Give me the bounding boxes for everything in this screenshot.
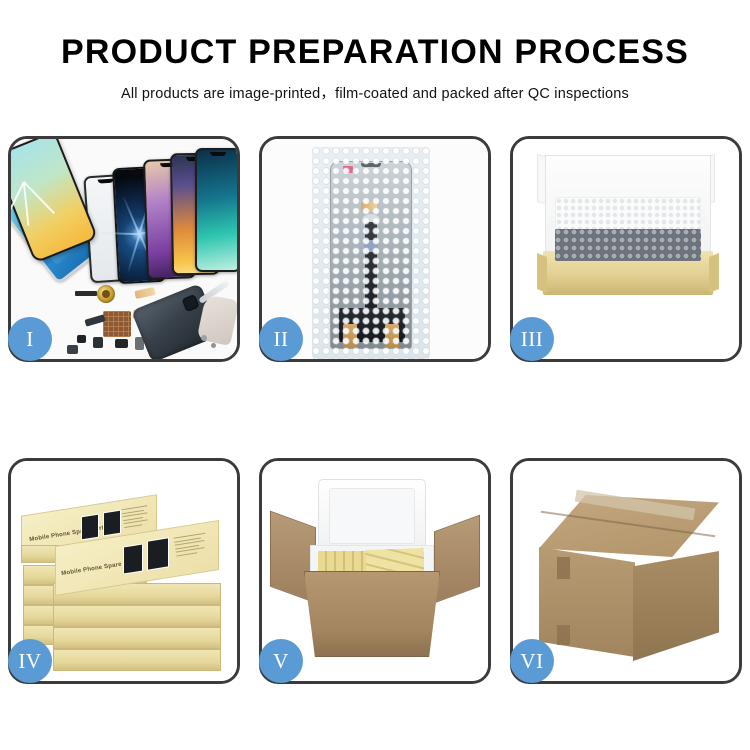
step-panel-1: I — [8, 136, 240, 362]
bubble-wrap-bag — [312, 147, 430, 359]
bubble-texture — [312, 147, 430, 359]
circuit-grid-board-part — [103, 311, 131, 337]
step-panel-6: VI — [510, 458, 742, 684]
page-header: PRODUCT PREPARATION PROCESS All products… — [0, 0, 750, 103]
chip-part — [93, 337, 103, 348]
step-badge-2: II — [259, 317, 303, 361]
tray-side-left — [537, 253, 547, 293]
step-panel-2: II — [259, 136, 491, 362]
screen-crack — [23, 181, 55, 214]
bubble-wrapped-contents — [555, 229, 701, 261]
carton-flap-right — [434, 515, 480, 604]
tape-strip — [557, 557, 570, 579]
process-steps-grid: I II — [8, 136, 742, 684]
box-stack: Mobile Phone Spare Parts Mobile Phone Sp… — [19, 479, 233, 675]
box-spec-lines — [121, 505, 152, 531]
screw-part — [211, 343, 216, 348]
step-panel-4: Mobile Phone Spare Parts Mobile Phone Sp… — [8, 458, 240, 684]
chip-part — [77, 335, 86, 343]
earpiece-speaker-part — [75, 291, 97, 296]
chip-part — [115, 339, 128, 348]
tape-strip — [557, 625, 570, 645]
screw-part — [201, 335, 207, 341]
kraft-tray-box — [543, 251, 713, 295]
step-panel-5: V — [259, 458, 491, 684]
notch-icon — [98, 179, 114, 184]
page-subtitle: All products are image-printed，film-coat… — [0, 82, 750, 103]
box-screen-image — [123, 543, 143, 574]
stacked-box — [53, 649, 221, 671]
carton-body — [304, 571, 440, 657]
page-title: PRODUCT PREPARATION PROCESS — [0, 34, 750, 71]
step-badge-5: V — [259, 639, 303, 683]
screen-crack — [22, 182, 28, 226]
box-screen-image — [81, 514, 99, 541]
notch-icon — [128, 171, 144, 176]
stacked-box — [53, 605, 221, 627]
step-badge-1: I — [8, 317, 52, 361]
step-badge-6: VI — [510, 639, 554, 683]
box-screen-image — [103, 510, 121, 537]
notch-icon — [210, 152, 226, 156]
box-screen-image — [147, 537, 169, 570]
stacked-box — [53, 627, 221, 649]
foam-box-lid — [318, 479, 426, 553]
carton-front-face — [539, 547, 635, 657]
vibration-coil-part — [97, 285, 115, 303]
phone-screen-teal — [195, 148, 237, 272]
step-panel-3: III — [510, 136, 742, 362]
carton-side-face — [633, 551, 719, 661]
step-badge-3: III — [510, 317, 554, 361]
camera-module-part — [67, 345, 78, 354]
foam-lid-inner — [329, 488, 415, 544]
step-badge-4: IV — [8, 639, 52, 683]
tray-side-right — [709, 253, 719, 293]
flex-cable-part — [134, 287, 155, 299]
